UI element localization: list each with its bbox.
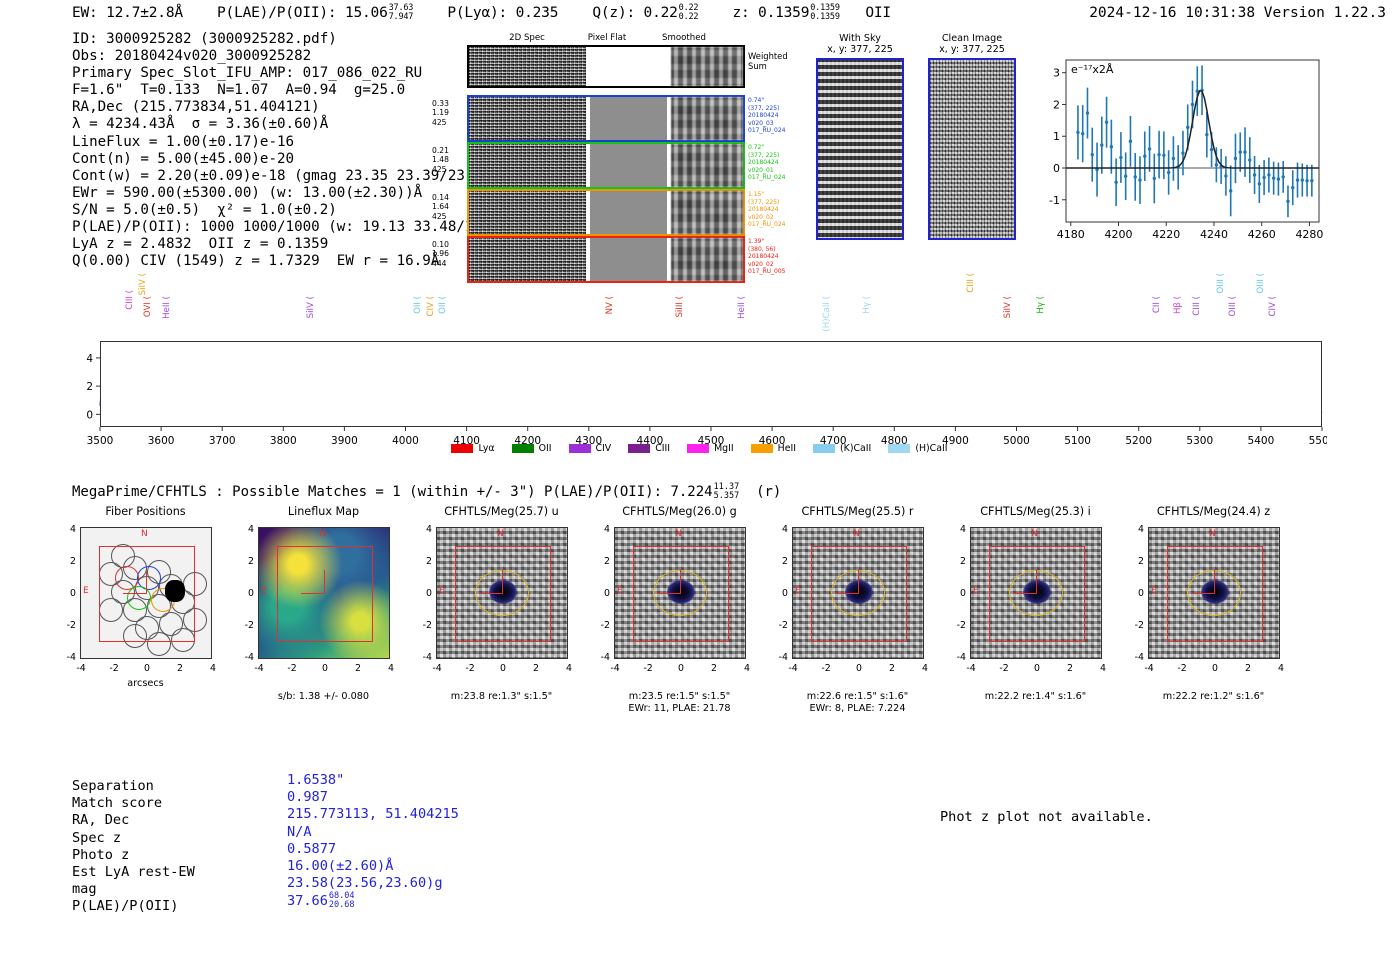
- cutout-xtick-4-0: -4: [785, 663, 801, 674]
- svg-text:4: 4: [86, 353, 93, 365]
- cutout-cross-h-2: [479, 593, 503, 594]
- montage-row-values-1: 0.21 1.48 425: [432, 146, 464, 174]
- spectrum-line-label-16: CII (: [1152, 296, 1162, 313]
- cutout-cross-v-0: [146, 570, 147, 594]
- compass-n-6: N: [1209, 529, 1216, 539]
- spec2d-montage: 2D SpecPixel FlatSmoothedWeighted Sum0.3…: [432, 33, 762, 258]
- cutout-ytick-1-0: 4: [238, 524, 254, 535]
- legend-item-(H)CaII: (H)CaII: [888, 443, 947, 454]
- match-detail-keys: Separation Match score RA, Dec Spec z Ph…: [72, 778, 195, 916]
- cutout-ytick-5-2: 0: [950, 588, 966, 599]
- compass-e-1: E: [261, 586, 267, 596]
- legend-swatch-5: [751, 444, 773, 453]
- cutout-cross-h-4: [835, 593, 859, 594]
- legend-label-6: (K)CaII: [840, 443, 871, 454]
- cutout-ytick-6-2: 0: [1128, 588, 1144, 599]
- cutout-ytick-2-1: 2: [416, 556, 432, 567]
- montage-row-values-0: 0.33 1.19 425: [432, 99, 464, 127]
- cutout-cross-h-0: [123, 593, 147, 594]
- sky-panel-title-1: Clean Imagex, y: 377, 225: [928, 33, 1016, 55]
- cutout-xtick-3-4: 4: [739, 663, 755, 674]
- cutout-cross-v-6: [1214, 570, 1215, 594]
- spectrum-line-label-4: SiIV (: [306, 296, 316, 318]
- cutout-image-3: NE: [614, 527, 746, 659]
- legend-swatch-4: [687, 444, 709, 453]
- cutout-xtick-2-2: 0: [495, 663, 511, 674]
- cutout-caption-3: m:23.5 re:1.5" s:1.5": [592, 691, 767, 703]
- spectrum-line-label-2: OVI (: [143, 296, 153, 317]
- spectrum-line-label-3: HeII (: [162, 296, 172, 319]
- cutout-ytick-0-1: 2: [60, 556, 76, 567]
- spectrum-line-label-13: CIII (: [966, 273, 976, 293]
- match-plae-frac: 11.375.357: [714, 483, 740, 501]
- svg-text:4200: 4200: [1105, 228, 1133, 241]
- spectrum-line-label-11: (H)CaII (: [822, 296, 832, 332]
- legend-item-(K)CaII: (K)CaII: [813, 443, 871, 454]
- compass-n-5: N: [1031, 529, 1038, 539]
- cutout-xtick-0-0: -4: [73, 663, 89, 674]
- cutout-xtick-2-3: 2: [528, 663, 544, 674]
- cutout-xtick-1-2: 0: [317, 663, 333, 674]
- spectrum-line-label-7: OII (: [438, 296, 448, 314]
- montage-row-2: [467, 189, 745, 236]
- cutout-redbox-4: [811, 546, 907, 642]
- cutout-xtick-6-3: 2: [1240, 663, 1256, 674]
- cutout-ytick-5-4: -4: [950, 652, 966, 663]
- cutout-caption2-4: EWr: 8, PLAE: 7.224: [770, 703, 945, 715]
- cutout-title-0: Fiber Positions: [58, 505, 233, 518]
- match-suffix: (r): [756, 484, 781, 500]
- sky-panel-image-1: [928, 58, 1016, 240]
- spectrum-line-label-10: HeII (: [737, 296, 747, 319]
- compass-n-2: N: [497, 529, 504, 539]
- header-qz-frac: 0.220.22: [679, 4, 699, 22]
- spectrum-axes: [100, 341, 1322, 427]
- cutout-xtick-6-1: -2: [1174, 663, 1190, 674]
- cutout-xtick-5-4: 4: [1095, 663, 1111, 674]
- cutout-image-0: NE: [80, 527, 212, 659]
- legend-item-Lyα: Lyα: [451, 443, 494, 454]
- montage-row-values-2: 0.14 1.64 425: [432, 193, 464, 221]
- cutout-ytick-6-1: 2: [1128, 556, 1144, 567]
- svg-text:2: 2: [1053, 98, 1060, 111]
- legend-label-7: (H)CaII: [915, 443, 947, 454]
- cutout-ytick-2-3: -2: [416, 620, 432, 631]
- cutout-ytick-3-2: 0: [594, 588, 610, 599]
- cutout-caption-1: s/b: 1.38 +/- 0.080: [236, 691, 411, 703]
- compass-e-3: E: [617, 586, 623, 596]
- cutout-xtick-2-0: -4: [429, 663, 445, 674]
- cutout-ytick-4-3: -2: [772, 620, 788, 631]
- svg-text:-1: -1: [1049, 194, 1060, 207]
- cutout-redbox-6: [1167, 546, 1263, 642]
- spectrum-line-label-19: OIII (: [1216, 273, 1226, 293]
- cutout-cross-v-4: [858, 570, 859, 594]
- cutout-cross-v-2: [502, 570, 503, 594]
- cutout-ytick-5-0: 4: [950, 524, 966, 535]
- legend-swatch-7: [888, 444, 910, 453]
- cutout-caption-4: m:22.6 re:1.5" s:1.6": [770, 691, 945, 703]
- cutout-caption-6: m:22.2 re:1.2" s:1.6": [1126, 691, 1301, 703]
- cutout-ytick-0-2: 0: [60, 588, 76, 599]
- spectrum-line-label-15: Hγ (: [1036, 296, 1046, 314]
- compass-n-1: N: [319, 529, 326, 539]
- legend-item-MgII: MgII: [687, 443, 734, 454]
- header-z-label: z: 0.1359: [732, 5, 809, 21]
- compass-e-2: E: [439, 586, 445, 596]
- cutout-ytick-4-2: 0: [772, 588, 788, 599]
- svg-text:e⁻¹⁷x2Å: e⁻¹⁷x2Å: [1071, 63, 1114, 76]
- emission-line-plot: -10123418042004220424042604280e⁻¹⁷x2Å: [1032, 52, 1327, 250]
- cutout-xtick-3-0: -4: [607, 663, 623, 674]
- photoz-note: Phot z plot not available.: [940, 809, 1153, 825]
- cutout-xtick-3-1: -2: [640, 663, 656, 674]
- cutout-xtick-6-2: 0: [1207, 663, 1223, 674]
- cutout-ytick-3-3: -2: [594, 620, 610, 631]
- legend-swatch-0: [451, 444, 473, 453]
- svg-text:0: 0: [1053, 162, 1060, 175]
- cutout-xtick-4-2: 0: [851, 663, 867, 674]
- cutout-title-2: CFHTLS/Meg(25.7) u: [414, 505, 589, 518]
- sky-panel-0: With Skyx, y: 377, 225: [816, 33, 904, 240]
- cutout-ytick-2-4: -4: [416, 652, 432, 663]
- svg-text:3: 3: [1053, 67, 1060, 80]
- cutout-image-6: NE: [1148, 527, 1280, 659]
- compass-e-4: E: [795, 586, 801, 596]
- cutout-caption-5: m:22.2 re:1.4" s:1.6": [948, 691, 1123, 703]
- cutout-ytick-5-1: 2: [950, 556, 966, 567]
- cutout-redbox-0: [99, 546, 195, 642]
- cutout-xtick-3-3: 2: [706, 663, 722, 674]
- cutout-title-6: CFHTLS/Meg(24.4) z: [1126, 505, 1301, 518]
- cutout-xtick-1-3: 2: [350, 663, 366, 674]
- match-text: MegaPrime/CFHTLS : Possible Matches = 1 …: [72, 484, 713, 500]
- legend-swatch-3: [628, 444, 650, 453]
- cutout-panel-5: CFHTLS/Meg(25.3) iNE420-2-4-4-2024m:22.2…: [948, 505, 1123, 735]
- spectrum-line-label-6: CIV (: [426, 296, 436, 317]
- cutout-xtick-3-2: 0: [673, 663, 689, 674]
- compass-e-6: E: [1151, 586, 1157, 596]
- cutout-xtick-0-2: 0: [139, 663, 155, 674]
- cutout-cross-h-3: [657, 593, 681, 594]
- legend-swatch-1: [512, 444, 534, 453]
- cutout-ytick-4-1: 2: [772, 556, 788, 567]
- cutout-xtick-0-3: 2: [172, 663, 188, 674]
- svg-text:4280: 4280: [1295, 228, 1323, 241]
- legend-label-1: OII: [539, 443, 552, 454]
- svg-text:0: 0: [86, 409, 93, 421]
- cutout-ytick-1-4: -4: [238, 652, 254, 663]
- cutout-xtick-4-3: 2: [884, 663, 900, 674]
- spec2d-col-title-1: Pixel Flat: [567, 33, 647, 43]
- montage-row-weighted-sum: [467, 45, 745, 88]
- weighted-sum-label: Weighted Sum: [748, 51, 788, 71]
- legend-swatch-6: [813, 444, 835, 453]
- cutout-xtick-0-1: -2: [106, 663, 122, 674]
- header-qz-label: Q(z): 0.22: [592, 5, 677, 21]
- cutout-row: Fiber PositionsNE420-2-4-4-2024arcsecsLi…: [0, 505, 1400, 735]
- cutout-caption-2: m:23.8 re:1.3" s:1.5": [414, 691, 589, 703]
- spectrum-line-label-14: SiIV (: [1003, 296, 1013, 318]
- cutout-redbox-1: [277, 546, 373, 642]
- cutout-ytick-3-4: -4: [594, 652, 610, 663]
- cutout-xtick-6-4: 4: [1273, 663, 1289, 674]
- cutout-xtick-1-1: -2: [284, 663, 300, 674]
- compass-e-5: E: [973, 586, 979, 596]
- cutout-title-5: CFHTLS/Meg(25.3) i: [948, 505, 1123, 518]
- montage-row-meta-0: 0.74" (377, 225) 20180424 v020_03 017_RU…: [748, 97, 808, 135]
- cutout-ytick-1-1: 2: [238, 556, 254, 567]
- cutout-xtick-1-0: -4: [251, 663, 267, 674]
- header-summary-line: EW: 12.7±2.8Å P(LAE)/P(OII): 15.0637.637…: [72, 4, 891, 22]
- match-detail-values: 1.6538" 0.987 215.773113, 51.404215 N/A …: [287, 772, 459, 911]
- sky-cutouts: With Skyx, y: 377, 225Clean Imagex, y: 3…: [816, 33, 1026, 258]
- spectrum-line-label-5: OII (: [413, 296, 423, 314]
- compass-n-4: N: [853, 529, 860, 539]
- svg-text:4240: 4240: [1200, 228, 1228, 241]
- cutout-cross-h-5: [1013, 593, 1037, 594]
- cutout-panel-4: CFHTLS/Meg(25.5) rNE420-2-4-4-2024m:22.6…: [770, 505, 945, 735]
- legend-label-5: HeII: [778, 443, 796, 454]
- sky-panel-image-0: [816, 58, 904, 240]
- cutout-panel-0: Fiber PositionsNE420-2-4-4-2024arcsecs: [58, 505, 233, 735]
- cutout-image-2: NE: [436, 527, 568, 659]
- montage-row-values-3: 0.10 1.96 444: [432, 240, 464, 268]
- cutout-ytick-0-3: -2: [60, 620, 76, 631]
- legend-label-2: CIV: [596, 443, 612, 454]
- spectrum-line-label-17: Hβ (: [1173, 296, 1183, 314]
- spectrum-line-label-20: OIII (: [1228, 296, 1238, 316]
- spectrum-line-label-0: CIII (: [125, 290, 135, 310]
- legend-label-3: CIII: [655, 443, 670, 454]
- spectrum-line-label-1: SiIV (: [138, 273, 148, 295]
- cutout-xtick-2-4: 4: [561, 663, 577, 674]
- cutout-redbox-3: [633, 546, 729, 642]
- legend-item-CIV: CIV: [569, 443, 612, 454]
- header-plae-label: P(LAE)/P(OII): 15.06: [217, 5, 388, 21]
- cutout-ytick-3-1: 2: [594, 556, 610, 567]
- sky-panel-1: Clean Imagex, y: 377, 225: [928, 33, 1016, 240]
- svg-text:4220: 4220: [1152, 228, 1180, 241]
- header-plya: P(Lyα): 0.235: [447, 5, 558, 21]
- legend-item-OII: OII: [512, 443, 552, 454]
- cutout-xtick-5-1: -2: [996, 663, 1012, 674]
- legend-swatch-2: [569, 444, 591, 453]
- header-z-species: OII: [865, 5, 891, 21]
- cutout-ytick-6-4: -4: [1128, 652, 1144, 663]
- cutout-ytick-4-4: -4: [772, 652, 788, 663]
- cutout-xtick-0-4: 4: [205, 663, 221, 674]
- cutout-ytick-2-2: 0: [416, 588, 432, 599]
- header-z-frac: 0.13590.1359: [810, 4, 840, 22]
- legend-label-0: Lyα: [478, 443, 494, 454]
- spec2d-col-title-0: 2D Spec: [487, 33, 567, 43]
- cutout-image-4: NE: [792, 527, 924, 659]
- cutout-xlabel-0: arcsecs: [58, 678, 233, 690]
- legend-label-4: MgII: [714, 443, 734, 454]
- spectrum-legend: LyαOIICIVCIIIMgIIHeII(K)CaII(H)CaII: [72, 443, 1327, 454]
- legend-item-CIII: CIII: [628, 443, 670, 454]
- montage-row-meta-1: 0.72" (377, 225) 20180424 v020_01 017_RU…: [748, 144, 808, 182]
- svg-text:2: 2: [86, 381, 93, 393]
- svg-text:1: 1: [1053, 130, 1060, 143]
- cutout-ytick-6-3: -2: [1128, 620, 1144, 631]
- match-summary-line: MegaPrime/CFHTLS : Possible Matches = 1 …: [72, 483, 781, 501]
- cutout-xtick-5-2: 0: [1029, 663, 1045, 674]
- cutout-cross-v-1: [324, 570, 325, 594]
- spectrum-line-label-9: SiIII (: [675, 296, 685, 318]
- cutout-redbox-2: [455, 546, 551, 642]
- cutout-xtick-5-0: -4: [963, 663, 979, 674]
- cutout-ytick-0-0: 4: [60, 524, 76, 535]
- cutout-panel-1: Lineflux MapNE420-2-4-4-2024s/b: 1.38 +/…: [236, 505, 411, 735]
- cutout-ytick-6-0: 4: [1128, 524, 1144, 535]
- compass-n-3: N: [675, 529, 682, 539]
- spectrum-line-label-12: Hγ (: [862, 296, 872, 314]
- cutout-cross-v-3: [680, 570, 681, 594]
- sky-panel-title-0: With Skyx, y: 377, 225: [816, 33, 904, 55]
- montage-row-0: [467, 95, 745, 142]
- cutout-ytick-1-3: -2: [238, 620, 254, 631]
- header-plae-frac: 37.637.947: [389, 4, 414, 22]
- cutout-ytick-5-3: -2: [950, 620, 966, 631]
- cutout-ytick-0-4: -4: [60, 652, 76, 663]
- cutout-ytick-3-0: 4: [594, 524, 610, 535]
- timestamp-version: 2024-12-16 10:31:38 Version 1.22.3: [1089, 5, 1386, 21]
- cutout-redbox-5: [989, 546, 1085, 642]
- cutout-image-1: NE: [258, 527, 390, 659]
- spectrum-line-label-22: CIV (: [1268, 296, 1278, 317]
- cutout-image-5: NE: [970, 527, 1102, 659]
- header-ew: EW: 12.7±2.8Å: [72, 5, 183, 21]
- cutout-title-1: Lineflux Map: [236, 505, 411, 518]
- montage-row-meta-2: 1.15" (377, 225) 20180424 v020_02 017_RU…: [748, 191, 808, 229]
- cutout-xtick-2-1: -2: [462, 663, 478, 674]
- cutout-ytick-4-0: 4: [772, 524, 788, 535]
- svg-text:4180: 4180: [1057, 228, 1085, 241]
- montage-row-1: [467, 142, 745, 189]
- full-spectrum-panel: 0243500360037003800390040004100420043004…: [72, 268, 1327, 458]
- cutout-xtick-1-4: 4: [383, 663, 399, 674]
- cutout-title-4: CFHTLS/Meg(25.5) r: [770, 505, 945, 518]
- cutout-xtick-4-1: -2: [818, 663, 834, 674]
- cutout-xtick-5-3: 2: [1062, 663, 1078, 674]
- spectrum-line-label-18: CIII (: [1192, 296, 1202, 316]
- cutout-panel-2: CFHTLS/Meg(25.7) uNE420-2-4-4-2024m:23.8…: [414, 505, 589, 735]
- cutout-panel-6: CFHTLS/Meg(24.4) zNE420-2-4-4-2024m:22.2…: [1126, 505, 1301, 735]
- cutout-caption2-3: EWr: 11, PLAE: 21.78: [592, 703, 767, 715]
- cutout-panel-3: CFHTLS/Meg(26.0) gNE420-2-4-4-2024m:23.5…: [592, 505, 767, 735]
- cutout-title-3: CFHTLS/Meg(26.0) g: [592, 505, 767, 518]
- cutout-cross-h-1: [301, 593, 325, 594]
- compass-e-0: E: [83, 586, 89, 596]
- cutout-xtick-6-0: -4: [1141, 663, 1157, 674]
- cutout-ytick-2-0: 4: [416, 524, 432, 535]
- cutout-cross-h-6: [1191, 593, 1215, 594]
- compass-n-0: N: [141, 529, 148, 539]
- bottom-plae-frac: 68.0420.68: [329, 892, 355, 910]
- svg-text:4260: 4260: [1248, 228, 1276, 241]
- cutout-ytick-1-2: 0: [238, 588, 254, 599]
- spec2d-col-title-2: Smoothed: [644, 33, 724, 43]
- spectrum-line-label-21: OIII (: [1256, 273, 1266, 293]
- cutout-xtick-4-4: 4: [917, 663, 933, 674]
- spectrum-line-label-8: NV (: [605, 296, 615, 314]
- cutout-cross-v-5: [1036, 570, 1037, 594]
- legend-item-HeII: HeII: [751, 443, 796, 454]
